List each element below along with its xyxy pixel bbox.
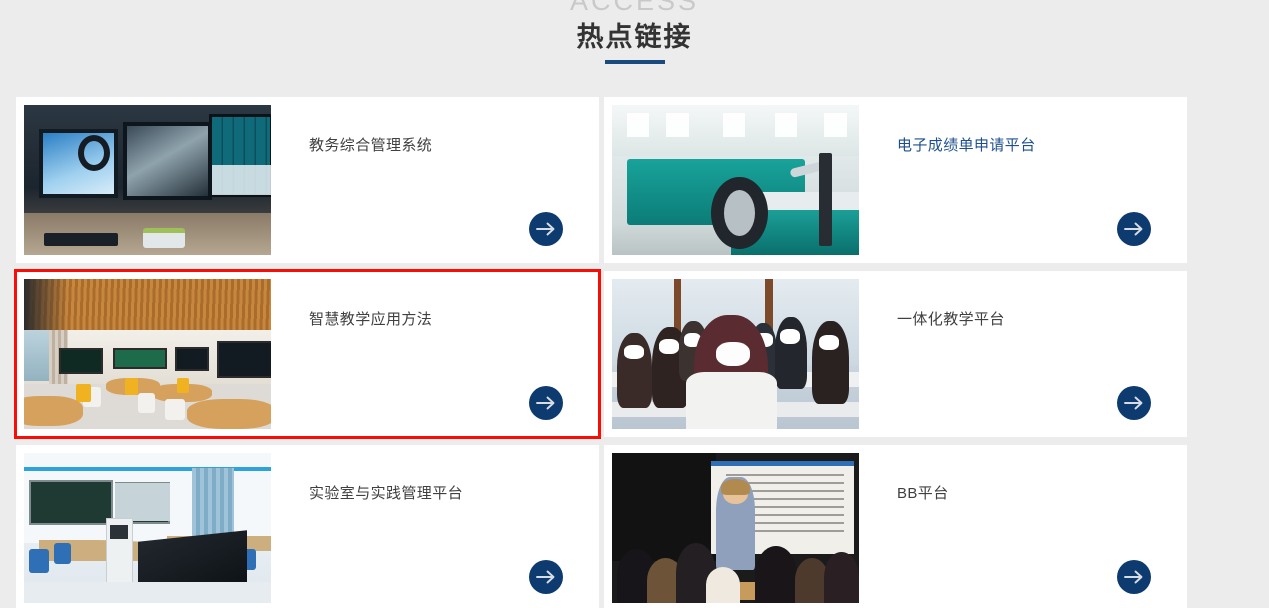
card-title: BB平台 bbox=[897, 483, 1179, 505]
card-title: 实验室与实践管理平台 bbox=[309, 483, 591, 505]
card-thumbnail bbox=[24, 453, 271, 603]
card-go-button[interactable] bbox=[1117, 386, 1151, 420]
card-go-button[interactable] bbox=[529, 560, 563, 594]
card-title: 教务综合管理系统 bbox=[309, 135, 591, 157]
card-thumbnail bbox=[612, 453, 859, 603]
arrow-right-icon bbox=[1124, 396, 1144, 410]
arrow-right-icon bbox=[1124, 222, 1144, 236]
card-title: 一体化教学平台 bbox=[897, 309, 1179, 331]
card-go-button[interactable] bbox=[529, 212, 563, 246]
card-go-button[interactable] bbox=[529, 386, 563, 420]
link-card-smart-teaching[interactable]: 智慧教学应用方法 bbox=[16, 271, 599, 437]
card-body: 教务综合管理系统 bbox=[271, 105, 591, 255]
arrow-right-icon bbox=[536, 396, 556, 410]
card-thumbnail bbox=[612, 279, 859, 429]
arrow-right-icon bbox=[1124, 570, 1144, 584]
card-go-button[interactable] bbox=[1117, 212, 1151, 246]
card-title: 智慧教学应用方法 bbox=[309, 309, 591, 331]
link-card-lab-practice[interactable]: 实验室与实践管理平台 bbox=[16, 445, 599, 608]
card-body: 一体化教学平台 bbox=[859, 279, 1179, 429]
link-card-bb-platform[interactable]: BB平台 bbox=[604, 445, 1187, 608]
hot-links-section: ACCESS 热点链接 教务综合管理系统 bbox=[0, 0, 1269, 608]
title-underline bbox=[605, 60, 665, 64]
section-header: ACCESS 热点链接 bbox=[0, 0, 1269, 64]
card-body: 智慧教学应用方法 bbox=[271, 279, 591, 429]
arrow-right-icon bbox=[536, 570, 556, 584]
card-body: 电子成绩单申请平台 bbox=[859, 105, 1179, 255]
card-title[interactable]: 电子成绩单申请平台 bbox=[897, 135, 1179, 157]
hot-links-grid: 教务综合管理系统 bbox=[16, 97, 1181, 608]
link-card-integrated-teaching[interactable]: 一体化教学平台 bbox=[604, 271, 1187, 437]
arrow-right-icon bbox=[536, 222, 556, 236]
card-thumbnail bbox=[24, 279, 271, 429]
card-thumbnail bbox=[24, 105, 271, 255]
section-eyebrow: ACCESS bbox=[0, 0, 1269, 16]
card-body: BB平台 bbox=[859, 453, 1179, 603]
card-thumbnail bbox=[612, 105, 859, 255]
link-card-transcript[interactable]: 电子成绩单申请平台 bbox=[604, 97, 1187, 263]
page-title: 热点链接 bbox=[0, 20, 1269, 54]
card-body: 实验室与实践管理平台 bbox=[271, 453, 591, 603]
link-card-jiaowu[interactable]: 教务综合管理系统 bbox=[16, 97, 599, 263]
card-go-button[interactable] bbox=[1117, 560, 1151, 594]
